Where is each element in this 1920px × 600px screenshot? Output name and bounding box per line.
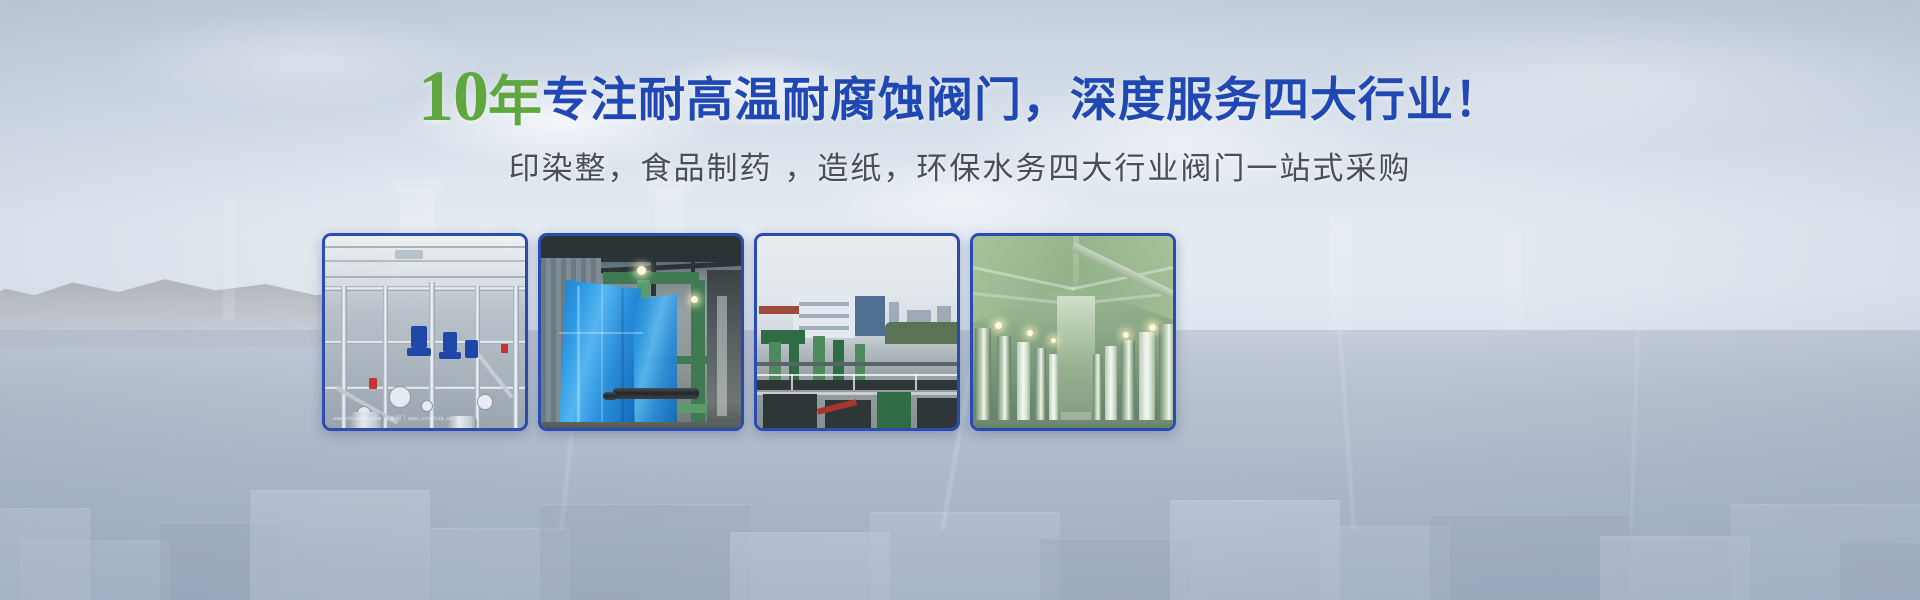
photo-3-image [757, 236, 957, 428]
photo-2-blue-fabric [559, 280, 641, 430]
promo-banner: 10年专注耐高温耐腐蚀阀门，深度服务四大行业！ 印染整，食品制药 ，造纸，环保水… [0, 0, 1920, 600]
photo-1-watermark: www.shvalve.com 上海阀门 www.cnvalve.cn [333, 415, 453, 422]
photo-1-valve [411, 326, 427, 348]
photo-3-machine [877, 392, 911, 431]
photo-1-gauge [389, 386, 411, 408]
photo-4-lamp [995, 322, 1002, 329]
photo-4-lamp [1027, 330, 1033, 336]
photo-blue-fabric-dyeing-line[interactable] [538, 233, 744, 431]
photo-2-roller [613, 388, 699, 399]
photo-1-valve [443, 332, 457, 352]
photo-3-tank [917, 398, 960, 431]
photo-paper-mill-outdoor-yard[interactable] [754, 233, 960, 431]
photo-green-ceiling-dyeing-hall[interactable] [970, 233, 1176, 431]
photo-1-red-tag [501, 344, 508, 353]
photo-2-roller [603, 392, 617, 400]
photo-1-red-tag [369, 378, 377, 389]
photo-4-image [973, 236, 1173, 428]
photo-1-gauge [477, 394, 493, 410]
photo-1-valve [407, 348, 431, 356]
photo-1-valve [439, 352, 461, 359]
photo-strip: www.shvalve.com 上海阀门 www.cnvalve.cn [0, 0, 1920, 600]
photo-1-image: www.shvalve.com 上海阀门 www.cnvalve.cn [325, 236, 525, 428]
photo-4-lamp [1051, 338, 1056, 343]
photo-2-lamp [637, 266, 646, 275]
photo-2-blue-fabric [633, 294, 677, 431]
photo-1-valve [465, 340, 478, 358]
photo-2-image [541, 236, 741, 428]
photo-4-lamp [1123, 332, 1129, 338]
photo-2-lamp [691, 296, 698, 303]
photo-3-building [855, 296, 885, 336]
photo-stainless-pipework-skid[interactable]: www.shvalve.com 上海阀门 www.cnvalve.cn [322, 233, 528, 431]
photo-1-gauge [421, 400, 433, 412]
photo-3-tank [763, 394, 817, 431]
photo-4-lamp [1149, 324, 1156, 331]
